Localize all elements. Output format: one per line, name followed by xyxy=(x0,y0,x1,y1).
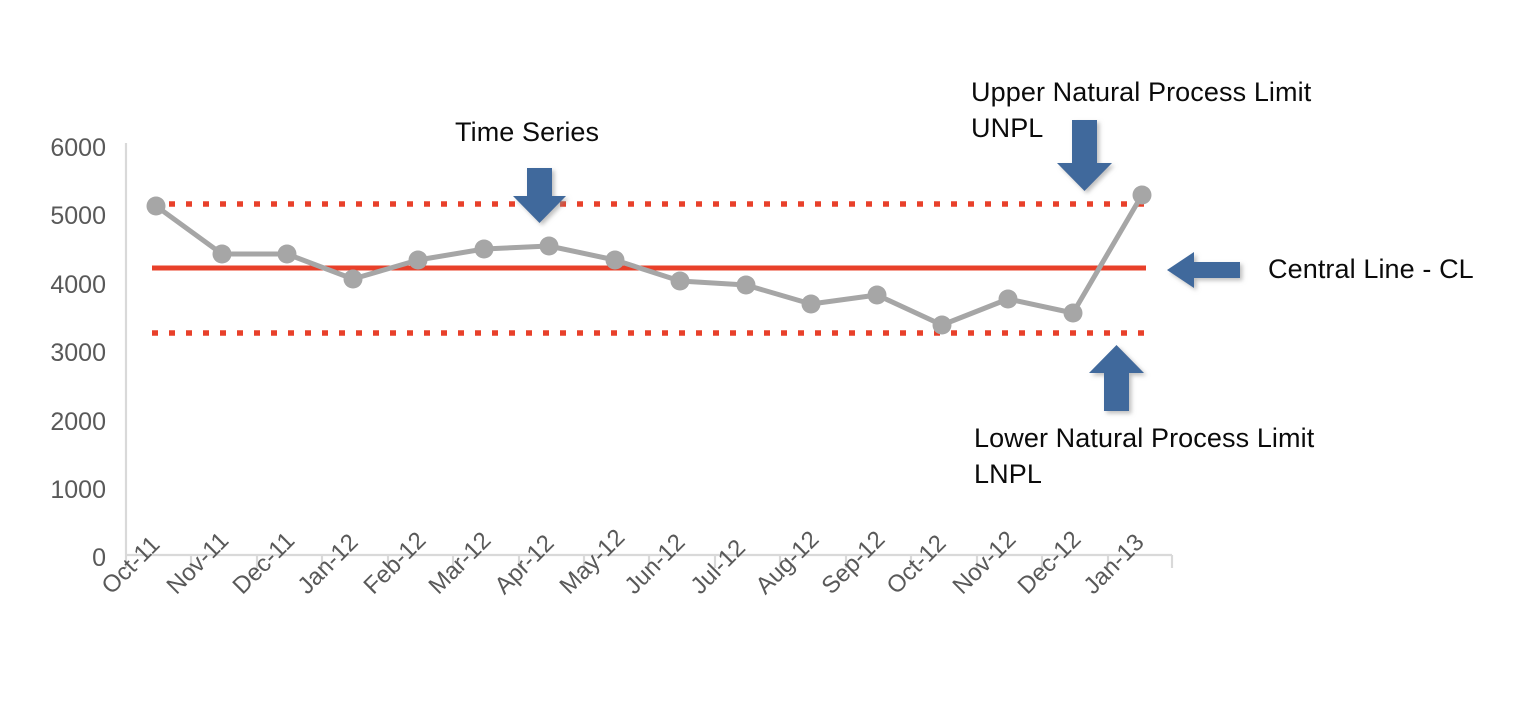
annotation-central-line-line1: Central Line - CL xyxy=(1268,254,1474,284)
x-tick-label: Jan-12 xyxy=(294,530,363,599)
x-tick-label: Jun-12 xyxy=(621,530,690,599)
x-tick-label: Nov-12 xyxy=(949,527,1021,599)
annotation-unpl: Upper Natural Process Limit UNPL xyxy=(971,74,1311,146)
annotation-lnpl-line1: Lower Natural Process Limit xyxy=(974,423,1314,453)
chart-canvas: 6000 5000 4000 3000 2000 1000 0 Oct-11 N… xyxy=(0,0,1536,715)
x-tick-label: Nov-11 xyxy=(163,529,233,599)
x-tick-label: Aug-12 xyxy=(752,527,824,599)
x-tick-label: Sep-12 xyxy=(818,527,890,599)
annotation-lnpl-line2: LNPL xyxy=(974,456,1314,492)
x-tick-label: Dec-11 xyxy=(229,529,299,599)
annotation-time-series: Time Series xyxy=(455,114,599,150)
x-tick-label: Oct-12 xyxy=(883,531,951,599)
x-tick-label: Jan-13 xyxy=(1080,530,1149,599)
annotation-unpl-line2: UNPL xyxy=(971,110,1311,146)
x-tick-label: Mar-12 xyxy=(425,528,496,599)
x-tick-label: Oct-11 xyxy=(98,532,165,599)
x-tick-label: Jul-12 xyxy=(687,536,750,599)
x-tick-label: May-12 xyxy=(556,525,630,599)
x-tick-label: Apr-12 xyxy=(491,531,559,599)
annotation-central-line: Central Line - CL xyxy=(1268,251,1474,287)
x-tick-label: Feb-12 xyxy=(360,528,431,599)
x-tick-label: Dec-12 xyxy=(1014,527,1086,599)
annotation-lnpl: Lower Natural Process Limit LNPL xyxy=(974,420,1314,492)
annotation-time-series-line1: Time Series xyxy=(455,117,599,147)
annotation-unpl-line1: Upper Natural Process Limit xyxy=(971,77,1311,107)
